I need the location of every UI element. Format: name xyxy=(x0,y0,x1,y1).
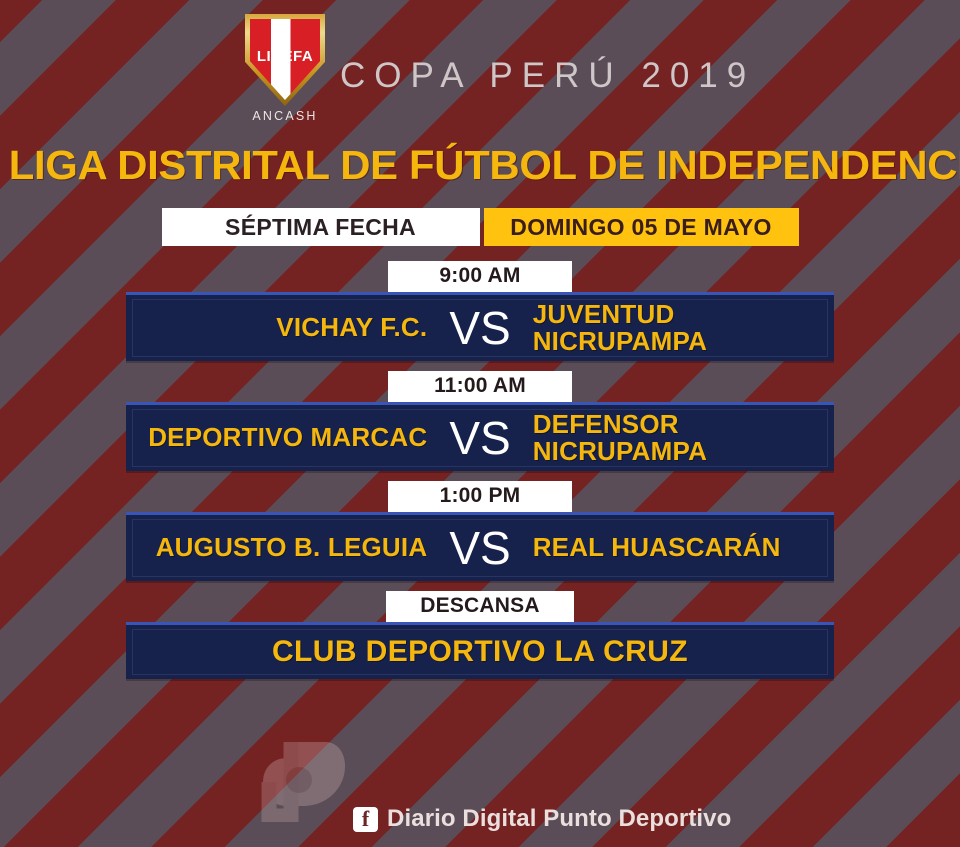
fecha-bar: SÉPTIMA FECHA DOMINGO 05 DE MAYO xyxy=(0,208,960,246)
match-row: 1:00 PM AUGUSTO B. LEGUIA VS REAL HUASCA… xyxy=(126,481,834,581)
competition-title: COPA PERÚ 2019 xyxy=(340,56,755,96)
rest-label: DESCANSA xyxy=(386,591,573,622)
page-title: LIGA DISTRITAL DE FÚTBOL DE INDEPENDENCI… xyxy=(0,142,960,189)
rest-band: CLUB DEPORTIVO LA CRUZ xyxy=(126,622,834,679)
crest-region: ANCASH xyxy=(243,109,327,123)
vs-separator: VS xyxy=(449,415,510,461)
match-band: VICHAY F.C. VS JUVENTUD NICRUPAMPA xyxy=(126,292,834,361)
round-label-chip: SÉPTIMA FECHA xyxy=(162,208,480,246)
league-crest: LIDEFA ANCASH xyxy=(243,14,327,123)
vs-separator: VS xyxy=(449,305,510,351)
match-time-row: 1:00 PM xyxy=(126,481,834,512)
crest-name: LIDEFA xyxy=(245,48,325,65)
match-band: DEPORTIVO MARCAC VS DEFENSOR NICRUPAMPA xyxy=(126,402,834,471)
match-band: AUGUSTO B. LEGUIA VS REAL HUASCARÁN xyxy=(126,512,834,581)
shield-crest-icon: LIDEFA xyxy=(245,14,325,106)
match-time-row: 11:00 AM xyxy=(126,371,834,402)
brand-name: Diario Digital Punto Deportivo xyxy=(387,805,731,833)
home-team: DEPORTIVO MARCAC xyxy=(136,424,449,451)
rest-team: CLUB DEPORTIVO LA CRUZ xyxy=(136,635,824,669)
poster-header: LIDEFA ANCASH COPA PERÚ 2019 xyxy=(0,0,960,142)
pd-monogram-logo xyxy=(229,736,349,822)
rest-row: DESCANSA CLUB DEPORTIVO LA CRUZ xyxy=(126,591,834,679)
away-team: DEFENSOR NICRUPAMPA xyxy=(511,411,824,465)
home-team: VICHAY F.C. xyxy=(136,314,449,341)
brand-credit: f Diario Digital Punto Deportivo xyxy=(353,805,731,833)
match-time-row: 9:00 AM xyxy=(126,261,834,292)
vs-separator: VS xyxy=(449,525,510,571)
fixture-poster: LIDEFA ANCASH COPA PERÚ 2019 LIGA DISTRI… xyxy=(0,0,960,847)
match-time: 11:00 AM xyxy=(388,371,572,402)
match-time: 1:00 PM xyxy=(388,481,572,512)
match-time: 9:00 AM xyxy=(388,261,572,292)
match-list: 9:00 AM VICHAY F.C. VS JUVENTUD NICRUPAM… xyxy=(0,261,960,679)
facebook-icon[interactable]: f xyxy=(353,807,378,832)
date-label-chip: DOMINGO 05 DE MAYO xyxy=(484,208,799,246)
match-row: 9:00 AM VICHAY F.C. VS JUVENTUD NICRUPAM… xyxy=(126,261,834,361)
poster-footer: f Diario Digital Punto Deportivo xyxy=(0,736,960,834)
rest-label-row: DESCANSA xyxy=(126,591,834,622)
away-team: JUVENTUD NICRUPAMPA xyxy=(511,301,824,355)
away-team: REAL HUASCARÁN xyxy=(511,534,824,561)
home-team: AUGUSTO B. LEGUIA xyxy=(136,534,449,561)
match-row: 11:00 AM DEPORTIVO MARCAC VS DEFENSOR NI… xyxy=(126,371,834,471)
